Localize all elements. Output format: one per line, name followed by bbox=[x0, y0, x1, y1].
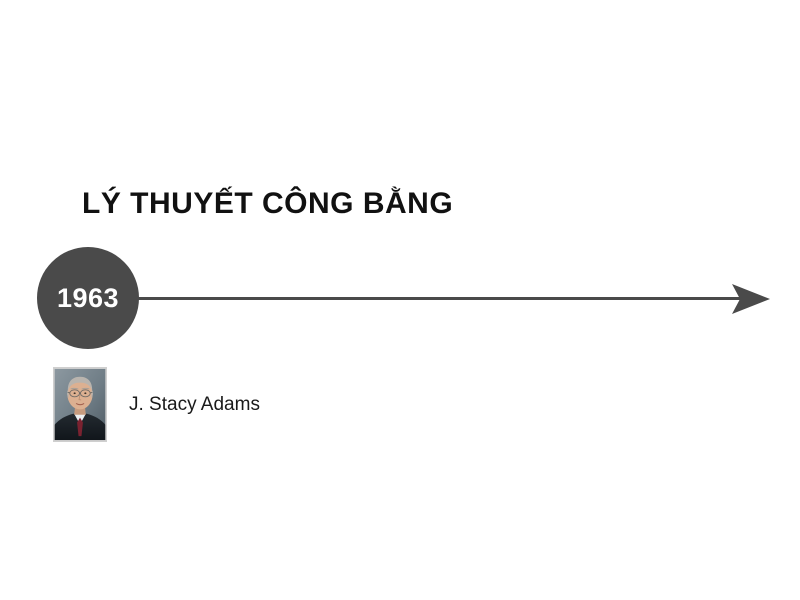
page-title: LÝ THUYẾT CÔNG BẰNG bbox=[82, 189, 453, 219]
timeline-year-label: 1963 bbox=[57, 285, 119, 312]
person-entry: J. Stacy Adams bbox=[53, 367, 260, 442]
slide-canvas: LÝ THUYẾT CÔNG BẰNG 1963 bbox=[0, 0, 800, 600]
portrait-photo bbox=[53, 367, 107, 442]
timeline-axis-line bbox=[137, 297, 741, 300]
person-name-label: J. Stacy Adams bbox=[129, 395, 260, 414]
arrow-right-icon bbox=[731, 282, 771, 316]
timeline-year-marker[interactable]: 1963 bbox=[37, 247, 139, 349]
timeline: 1963 bbox=[0, 246, 800, 356]
